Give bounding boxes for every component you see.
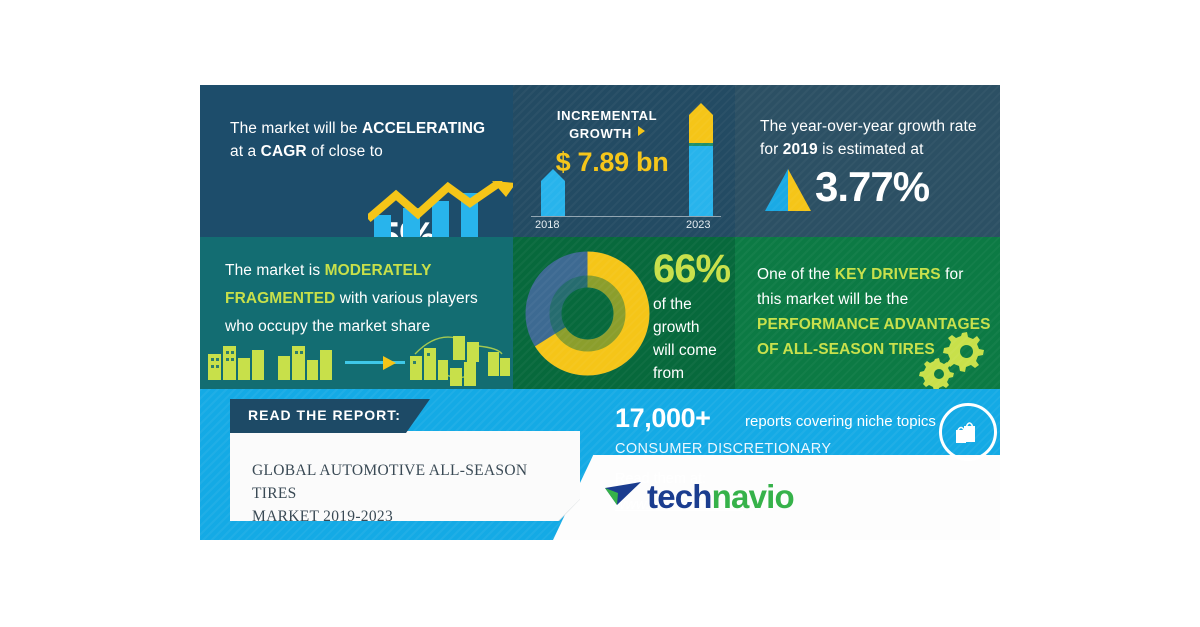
yoy-statement: The year-over-year growth rate for 2019 … <box>760 115 995 161</box>
footer-bar: READ THE REPORT: GLOBAL AUTOMOTIVE ALL-S… <box>200 389 1000 540</box>
growth-triangle-icon <box>765 169 811 211</box>
report-title-line2: MARKET 2019-2023 <box>252 508 393 525</box>
region-donut-chart <box>525 251 650 376</box>
infographic-canvas: The market will be ACCELERATING at a CAG… <box>0 0 1200 627</box>
infographic: The market will be ACCELERATING at a CAG… <box>200 85 1000 540</box>
yoy-line1: The year-over-year growth rate <box>760 118 977 135</box>
drivers-line2: this market will be the <box>757 291 908 308</box>
row-middle: The market is MODERATELY FRAGMENTED with… <box>200 237 1000 389</box>
report-card[interactable]: GLOBAL AUTOMOTIVE ALL-SEASON TIRES MARKE… <box>230 431 580 521</box>
region-line1: of the growth <box>653 296 700 336</box>
frag-line1-bold: MODERATELY <box>325 262 432 279</box>
incremental-growth-panel: INCREMENTAL GROWTH $ 7.89 bn 2018 2023 <box>513 85 735 237</box>
triangle-left-half <box>765 169 788 211</box>
logo-text-navio: navio <box>712 480 794 513</box>
bar-2023-base <box>689 146 713 216</box>
drivers-line4: OF ALL-SEASON TIRES <box>757 341 935 358</box>
report-category: CONSUMER DISCRETIONARY <box>615 441 831 457</box>
paper-plane-icon <box>603 479 643 513</box>
yoy-line2-post: is estimated at <box>818 141 924 158</box>
region-growth-panel: 66% of the growth will come from NORTH A… <box>513 237 735 389</box>
triangle-right-half <box>788 169 811 211</box>
bar-1 <box>374 215 391 237</box>
cagr-line2-post: of close to <box>307 143 383 160</box>
read-the-report-label: READ THE REPORT: <box>248 407 401 423</box>
frag-line1-pre: The market is <box>225 262 325 279</box>
yoy-year: 2019 <box>783 141 818 158</box>
region-statement: of the growth will come from NORTH AMERI… <box>653 293 735 389</box>
frag-line2-post: with various players <box>335 290 478 307</box>
report-count: 17,000+ <box>615 403 711 434</box>
bar-3 <box>432 201 449 237</box>
cagr-line1-bold: ACCELERATING <box>362 120 485 137</box>
gears-icon <box>915 329 987 389</box>
report-title: GLOBAL AUTOMOTIVE ALL-SEASON TIRES MARKE… <box>252 459 562 528</box>
cagr-bar-chart <box>368 181 513 237</box>
axis-label-2018: 2018 <box>535 219 559 231</box>
frag-line2-bold: FRAGMENTED <box>225 290 335 307</box>
yoy-value: 3.77% <box>815 163 929 211</box>
chart-axis <box>531 216 721 217</box>
report-title-line1: GLOBAL AUTOMOTIVE ALL-SEASON TIRES <box>252 462 527 502</box>
bar-2018 <box>541 169 565 216</box>
region-percentage: 66% <box>653 247 730 292</box>
bar-2023-increment <box>689 103 713 143</box>
drivers-line1-pre: One of the <box>757 266 835 283</box>
read-the-report-banner: READ THE REPORT: <box>230 399 430 433</box>
cagr-line1-pre: The market will be <box>230 120 362 137</box>
cagr-panel: The market will be ACCELERATING at a CAG… <box>200 85 513 237</box>
cagr-statement: The market will be ACCELERATING at a CAG… <box>230 117 495 163</box>
city-buildings-icon <box>200 332 513 389</box>
shopping-bags-icon <box>939 403 997 461</box>
incremental-growth-chart <box>513 85 735 237</box>
arrow-marker-icon <box>383 356 396 370</box>
region-line2: will come from <box>653 342 717 382</box>
technavio-logo[interactable]: tech navio <box>603 479 794 513</box>
yoy-line2-pre: for <box>760 141 783 158</box>
year-over-year-panel: The year-over-year growth rate for 2019 … <box>735 85 1000 237</box>
axis-label-2023: 2023 <box>686 219 710 231</box>
cagr-line2-pre: at a <box>230 143 261 160</box>
row-top: The market will be ACCELERATING at a CAG… <box>200 85 1000 237</box>
drivers-line1-bold: KEY DRIVERS <box>835 266 941 283</box>
logo-text-tech: tech <box>647 480 712 513</box>
donut-hole <box>565 291 611 337</box>
bar-2023-divider <box>689 143 713 146</box>
fragmentation-statement: The market is MODERATELY FRAGMENTED with… <box>225 257 500 341</box>
cagr-line2-bold: CAGR <box>261 143 307 160</box>
drivers-line1-post: for <box>941 266 964 283</box>
report-count-suffix: reports covering niche topics <box>745 413 936 430</box>
key-drivers-panel: One of the KEY DRIVERS for this market w… <box>735 237 1000 389</box>
market-fragmentation-panel: The market is MODERATELY FRAGMENTED with… <box>200 237 513 389</box>
